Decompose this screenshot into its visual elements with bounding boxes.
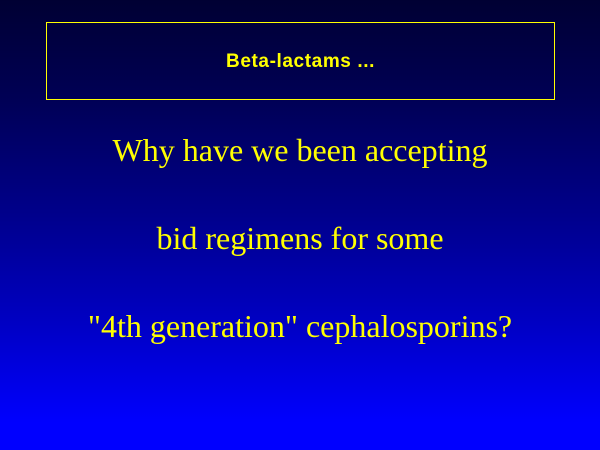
body-line-1: Why have we been accepting	[0, 134, 600, 222]
body-line-3: "4th generation" cephalosporins?	[0, 310, 600, 398]
presentation-slide: Beta-lactams ... Why have we been accept…	[0, 0, 600, 450]
slide-title-box: Beta-lactams ...	[46, 22, 555, 100]
slide-title: Beta-lactams ...	[226, 52, 375, 71]
body-line-2: bid regimens for some	[0, 222, 600, 310]
slide-body: Why have we been accepting bid regimens …	[0, 134, 600, 398]
